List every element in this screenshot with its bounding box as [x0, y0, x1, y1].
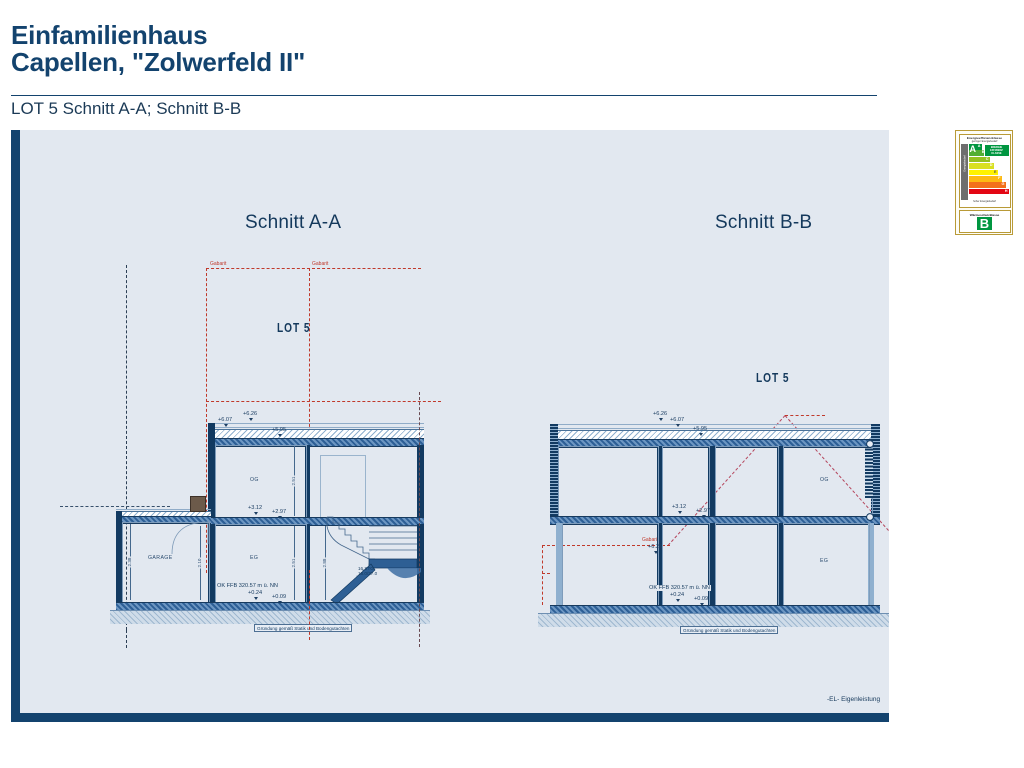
centerline-h-aa — [60, 506, 170, 507]
stair-annotation-aa: 16 STG 18.0/27.0 — [358, 566, 377, 577]
lot-label-aa: LOT 5 — [277, 320, 310, 335]
wall-og-left-body-aa — [208, 445, 215, 517]
room-label-garage-aa: GARAGE — [148, 555, 173, 561]
elevation-tri-3-12-bb — [678, 511, 682, 514]
energy-scale: Energiebedarf A B C D E F G H ENERGIE EF… — [960, 144, 1010, 200]
elevation-6-07-aa: +6.07 — [218, 417, 232, 423]
dimension-value-2-38: 2.38 — [126, 557, 131, 568]
page-title: Einfamilienhaus Capellen, "Zolwerfeld II… — [11, 22, 891, 76]
elevation-2-97-bb: +2.97 — [696, 508, 710, 514]
gabarit-ridge-bb — [785, 415, 825, 416]
room-og-1-bb — [558, 446, 659, 518]
elevation-3-12-bb: +3.12 — [672, 504, 686, 510]
scale-bar-c: C — [969, 157, 990, 163]
ground-hatch-aa — [110, 610, 430, 624]
energy-high-note: hoher Energiebedarf — [960, 200, 1010, 203]
elevation-0-24-aa: +0.24 — [248, 590, 262, 596]
title-line-1: Einfamilienhaus — [11, 20, 207, 50]
roof-line-mid-bb — [550, 428, 880, 429]
dimension-garage-2-10-aa: 2.10 — [200, 526, 201, 600]
energy-band-text: Energiebedarf — [963, 152, 966, 176]
elevation-tri-6-26-bb — [654, 551, 658, 554]
dimension-value-eg-2-51: 2.51 — [290, 558, 295, 569]
ffb-note-aa: OK FFB 320.57 m ü. NN — [216, 583, 279, 589]
dimension-value-2-10: 2.10 — [196, 558, 201, 569]
drawing-sheet: Schnitt A-A Gabarit Gabarit LOT 5 OG — [11, 130, 889, 722]
dimension-og-2-51-aa: 2.51 — [294, 446, 295, 516]
title-line-2: Capellen, "Zolwerfeld II" — [11, 49, 891, 76]
energy-class-plate: ENERGIE EFFIZIENZ KLASSE — [984, 144, 1010, 157]
page-subtitle: LOT 5 Schnitt A-A; Schnitt B-B — [11, 99, 241, 119]
gabarit-mid-aa — [206, 401, 441, 402]
dimension-value-2-88: 2.88 — [321, 558, 326, 569]
room-eg-1-bb — [562, 523, 659, 607]
foundation-note-aa: Gründung gemäß Statik und Bodengutachten — [254, 624, 352, 632]
gabarit-label-left-aa: Gabarit — [210, 261, 226, 267]
energy-band-label: Energiebedarf — [961, 144, 968, 200]
elevation-2-97-aa: +2.97 — [272, 509, 286, 515]
garage-door-box-aa — [190, 496, 206, 512]
elevation-6-07-bb: +6.07 — [670, 417, 684, 423]
scale-bar-g: G — [969, 182, 1006, 188]
scale-bar-d: D — [969, 163, 994, 169]
elevation-tri-6-07-bb — [676, 424, 680, 427]
thermal-class-box: Wärmeschutzklasse B — [959, 210, 1011, 233]
elevation-6-26-bb: +6.26 — [648, 544, 662, 550]
staircase-aa — [325, 512, 425, 607]
room-label-eg-bb: EG — [820, 558, 828, 564]
dimension-value-og-2-51: 2.51 — [290, 476, 295, 487]
stairwell-line-aa — [320, 455, 321, 517]
dimension-eg-2-51-aa: 2.51 — [294, 526, 295, 600]
elevation-tri-5-95-aa — [278, 434, 282, 437]
room-eg-4-bb — [783, 523, 870, 607]
gabarit-top-aa — [206, 268, 421, 269]
lot-label-bb: LOT 5 — [756, 370, 789, 385]
elevation-tri-0-24-aa — [254, 597, 258, 600]
energy-class-letter: A — [970, 144, 977, 155]
energy-efficiency-box: Energieeffizienzklasse geringer Energieb… — [959, 134, 1011, 208]
drawing-page: Einfamilienhaus Capellen, "Zolwerfeld II… — [0, 0, 1024, 768]
stairwell-right-aa — [365, 455, 366, 517]
elevation-tri-2-97-aa — [278, 516, 282, 519]
section-aa-title: Schnitt A-A — [245, 212, 341, 234]
scale-bar-f: F — [969, 176, 1002, 182]
elevation-5-95-bb: +5.95 — [693, 426, 707, 432]
energy-low-note: geringer Energiebedarf — [960, 140, 1010, 143]
centerline-red-aa — [309, 570, 310, 640]
drawing-canvas: Schnitt A-A Gabarit Gabarit LOT 5 OG — [20, 130, 889, 713]
gabarit-label-right-aa: Gabarit — [312, 261, 328, 267]
connector-top-bb — [862, 438, 878, 450]
energy-label-badge: Energieeffizienzklasse geringer Energieb… — [955, 130, 1013, 235]
elevation-3-12-aa: +3.12 — [248, 505, 262, 511]
thermal-class-letter: B — [977, 217, 992, 230]
centerline-left-bottom-aa — [126, 630, 127, 648]
elevation-0-09-aa: +0.09 — [272, 594, 286, 600]
room-og-3-bb — [715, 446, 779, 518]
energy-plate-text: ENERGIE EFFIZIENZ KLASSE — [986, 146, 1008, 155]
elevation-tri-0-09-aa — [278, 601, 282, 604]
room-label-og-aa: OG — [250, 477, 259, 483]
room-label-eg-aa: EG — [250, 555, 258, 561]
header-divider — [11, 95, 877, 96]
foundation-note-bb: Gründung gemäß Statik und Bodengutachten — [680, 626, 778, 634]
ffb-note-bb: OK FFB 320.57 m ü. NN — [648, 585, 711, 591]
elevation-tri-6-07-aa — [224, 424, 228, 427]
elevation-0-09-bb: +0.09 — [694, 596, 708, 602]
elevation-tri-6-26b-bb — [659, 418, 663, 421]
gabarit-left-wall-bb — [542, 545, 543, 605]
elevation-6-26b-bb: +6.26 — [653, 411, 667, 417]
footer-eigenleistung: -EL- Eigenleistung — [827, 696, 880, 703]
gabarit-tick-bb — [542, 573, 550, 574]
stairwell-top-aa — [320, 455, 365, 456]
elevation-6-26-aa: +6.26 — [243, 411, 257, 417]
elevation-tri-6-26-aa — [249, 418, 253, 421]
elevation-tri-0-09-bb — [700, 603, 704, 606]
ground-hatch-bb — [538, 613, 889, 627]
stair-rise-run-aa: 18.0/27.0 — [358, 571, 377, 576]
roof-line-top-aa — [208, 423, 424, 424]
stair-count-aa: 16 STG — [358, 566, 374, 571]
elevation-tri-3-12-aa — [254, 512, 258, 515]
elevation-tri-2-97-bb — [702, 515, 706, 518]
dimension-garage-2-38-aa: 2.38 — [130, 524, 131, 600]
roof-line-mid-aa — [208, 427, 424, 428]
elevation-5-95-aa: +5.95 — [272, 427, 286, 433]
scale-bar-h: H — [969, 189, 1009, 195]
connector-bottom-bb — [862, 511, 878, 523]
wall-og-left-bb — [550, 424, 558, 516]
wall-og-left-aa — [208, 423, 215, 445]
roof-line-top-bb — [550, 424, 880, 425]
elevation-tri-0-24-bb — [676, 599, 680, 602]
room-eg-3-bb — [715, 523, 779, 607]
elevation-0-24-bb: +0.24 — [670, 592, 684, 598]
garage-door-swing-aa — [170, 518, 212, 556]
page-header: Einfamilienhaus Capellen, "Zolwerfeld II… — [0, 0, 1024, 122]
wall-detail-hatch-bb — [865, 448, 873, 498]
centerline-right-aa — [419, 392, 420, 647]
room-label-og-bb: OG — [820, 477, 829, 483]
thermal-class-chip: B — [977, 217, 992, 230]
elevation-tri-5-95-bb — [699, 433, 703, 436]
dimension-eg-2-88-aa: 2.88 — [325, 526, 326, 600]
scale-bar-e: E — [969, 170, 998, 176]
section-bb-title: Schnitt B-B — [715, 212, 812, 234]
